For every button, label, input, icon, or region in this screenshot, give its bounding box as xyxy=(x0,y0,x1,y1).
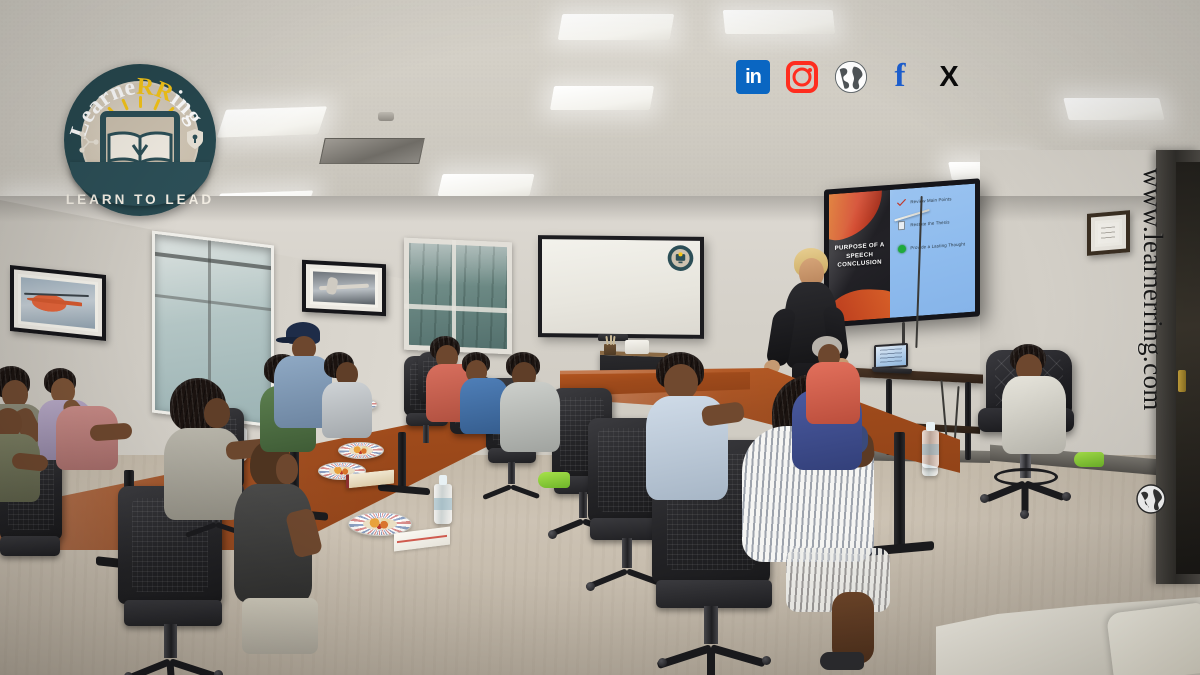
framed-certificate xyxy=(1087,210,1130,256)
stool-caster xyxy=(1062,492,1071,501)
linkedin-icon[interactable]: in xyxy=(734,58,772,96)
ceiling-light-panel xyxy=(723,10,836,34)
student-arm xyxy=(89,423,132,442)
logo-open-book-icon xyxy=(106,131,174,165)
sprinkler-head xyxy=(378,112,394,121)
chair-base-spoke xyxy=(707,648,715,675)
chair-caster xyxy=(658,658,667,667)
social-icon-bar: in f X xyxy=(734,58,968,96)
ceiling-light-panel xyxy=(1063,98,1164,120)
logo-sun-ray xyxy=(139,96,142,108)
student-torso xyxy=(500,382,560,452)
logo-shield-icon xyxy=(186,128,204,150)
chair-gas-cylinder xyxy=(579,492,587,518)
stool-caster xyxy=(1020,510,1029,519)
linkedin-glyph: in xyxy=(736,60,770,94)
desk-leg xyxy=(965,382,971,460)
student-torso xyxy=(322,382,372,438)
ceiling-light-panel xyxy=(437,174,534,196)
whiteboard-logo-decal xyxy=(667,244,694,271)
chair-seat xyxy=(656,580,772,608)
globe-glyph xyxy=(834,60,868,94)
helicopter-artwork xyxy=(21,277,95,329)
student-head xyxy=(204,398,230,428)
paper-plate-with-food xyxy=(338,442,384,459)
framed-aircraft-photo xyxy=(302,260,386,316)
laptop-screen xyxy=(874,343,908,369)
water-bottle xyxy=(434,484,452,524)
whiteboard xyxy=(538,235,704,339)
chair-caster xyxy=(586,582,595,591)
chair-seat xyxy=(0,536,60,556)
framed-helicopter-photo xyxy=(10,265,106,341)
stool-caster xyxy=(980,494,989,503)
chair-caster xyxy=(214,670,223,675)
ceiling-light-panel xyxy=(550,86,654,110)
chair-gas-cylinder xyxy=(508,462,515,484)
instagram-glyph xyxy=(786,61,818,93)
student-shorts xyxy=(242,598,318,654)
globe-icon-small xyxy=(1136,484,1166,514)
chair-caster xyxy=(548,530,557,539)
chair-gas-cylinder xyxy=(704,606,718,644)
globe-icon[interactable] xyxy=(832,58,870,96)
instagram-icon[interactable] xyxy=(783,58,821,96)
scene-photo: PURPOSE OF A SPEECH CONCLUSION Review Ma… xyxy=(0,0,1200,675)
student-torso xyxy=(1002,376,1066,454)
stool-base-spoke xyxy=(1022,484,1029,514)
x-glyph: X xyxy=(939,63,958,92)
aircraft-artwork xyxy=(313,271,375,304)
ceiling-light-panel xyxy=(217,106,327,137)
photo-mat xyxy=(310,268,378,308)
photo-mat xyxy=(18,274,98,332)
tissue-box xyxy=(625,340,649,354)
logo-tagline: LEARN TO LEAD xyxy=(64,192,216,207)
cloth-fold xyxy=(1106,602,1200,675)
facebook-icon[interactable]: f xyxy=(881,58,919,96)
pen-holder xyxy=(604,344,616,355)
window-mullion xyxy=(155,251,271,269)
certificate-mat xyxy=(1095,219,1122,247)
window-mullion xyxy=(155,294,271,311)
facebook-glyph: f xyxy=(895,62,906,92)
chair-gas-cylinder xyxy=(164,624,177,658)
ceiling-light-panel xyxy=(558,14,675,40)
website-url: www.learnerring.com xyxy=(1137,168,1168,411)
student-shoe xyxy=(820,652,864,670)
certificate-artwork xyxy=(1098,222,1119,244)
chair-seat xyxy=(124,600,222,626)
table-leg xyxy=(398,432,406,490)
student-sneaker xyxy=(1074,452,1104,467)
window-divider xyxy=(452,240,456,352)
chair-gas-cylinder xyxy=(622,538,632,568)
logo-network-node-icon xyxy=(78,130,100,154)
water-bottle xyxy=(922,430,939,468)
table-leg xyxy=(894,432,905,550)
student-sneaker xyxy=(538,472,570,488)
student-head xyxy=(664,364,698,400)
far-window xyxy=(404,238,512,355)
chair-gas-cylinder xyxy=(423,425,429,443)
adult-torso xyxy=(806,362,860,424)
learnerring-logo: LearneRRing L xyxy=(64,64,216,216)
x-twitter-icon[interactable]: X xyxy=(930,58,968,96)
door-panel xyxy=(1176,162,1200,574)
chair-caster xyxy=(762,656,771,665)
door-handle xyxy=(1178,370,1186,392)
plate-food xyxy=(349,446,374,454)
student-face xyxy=(276,454,298,484)
ceiling-vent xyxy=(319,138,425,164)
